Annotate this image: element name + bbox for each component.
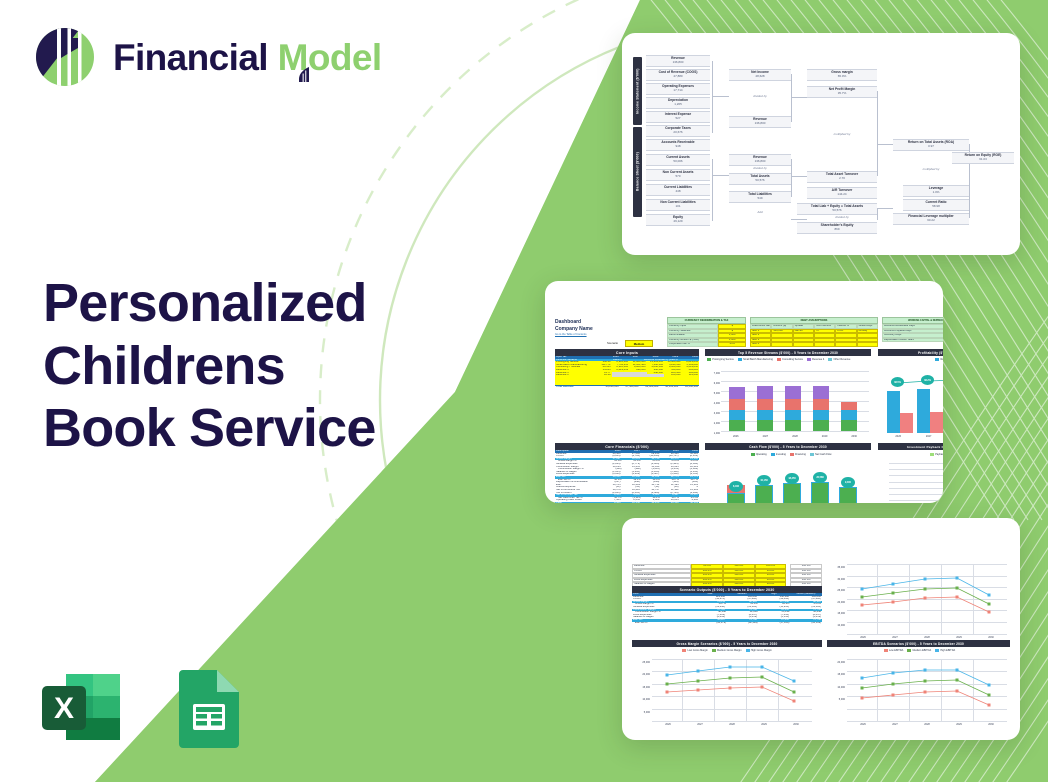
chart-title-ebitda-scenarios: EBITDA Scenarios ($'000) - 5 Years to De… xyxy=(827,640,1010,647)
brand-logo: Financial Model xyxy=(34,26,382,88)
legend-ebitda-scenarios: Low EBITDA Medium EBITDA High EBITDA xyxy=(847,649,992,652)
scenario-selector[interactable]: Medium xyxy=(625,340,653,347)
chart-revenue-scenarios-plot xyxy=(847,564,1007,634)
diagram-node: Depreciation1,265 xyxy=(646,97,710,109)
legend-cash-flow: Operating Investing Financing Net Cash F… xyxy=(713,453,869,456)
table-total-row: Total Revenue 26,200,000 27,400,000 28,4… xyxy=(555,385,699,389)
operator-label: multiplied by xyxy=(893,167,969,171)
chart-cash-flow-plot: 8,466 10,158 18,256 26,588 9,300 xyxy=(721,463,869,503)
legend-top5-revenue: Prototyping Service Small Batch Manufact… xyxy=(707,358,871,361)
panel-currency-denomination: CURRENCY DENOMINATION & TAX Currency Inp… xyxy=(667,317,746,345)
diagram-node: Corporate Taxes20,676 xyxy=(646,125,710,137)
diagram-node: Revenue136,800 xyxy=(729,116,791,128)
connector xyxy=(791,219,807,220)
connector xyxy=(712,159,713,221)
connector xyxy=(877,144,878,176)
screenshot-financial-ratio-diagram[interactable]: Income Statement ($'000) Balance Sheet (… xyxy=(622,33,1020,255)
diagram-node: Current Ratio58.98 xyxy=(903,199,969,211)
operator-label: divided by xyxy=(807,215,877,219)
diagram-node: Current Liabilities448 xyxy=(646,184,710,196)
table-of-contents-link[interactable]: Go to the Table of Contents xyxy=(555,333,587,336)
connector xyxy=(791,97,807,98)
yaxis-ebitda-scenarios: 20,000 15,000 10,000 5,000 xyxy=(825,657,845,707)
svg-text:X: X xyxy=(54,692,74,725)
xaxis-profitability: 2026 2027 2028 2029 2030 xyxy=(883,435,943,438)
connector xyxy=(712,96,729,97)
panel-working-capital: WORKING CAPITAL & DEPRECIATION Accounts … xyxy=(882,317,943,345)
diagram-node: Equity49,129 xyxy=(646,214,710,226)
diagram-node: Shareholder's Equity869 xyxy=(797,222,877,234)
legend-gross-margin-scenarios: Low Gross Margin Medium Gross Margin Hig… xyxy=(652,649,802,652)
chart-investment-payback-plot xyxy=(889,463,943,503)
panel-debt-assumptions: DEBT ASSUMPTIONS Loan/Grant NameAmount (… xyxy=(750,317,878,345)
band-balance-sheet: Balance Sheet ($'000) xyxy=(633,127,642,217)
yaxis-gross-margin-scenarios: 25,000 20,000 15,000 10,000 5,000 xyxy=(630,657,650,719)
yaxis-top5-revenue: 7,000 6,000 5,000 4,000 3,000 2,000 1,00… xyxy=(705,369,720,439)
diagram-node: Return on Total Assets (ROA)0.97 xyxy=(893,139,969,151)
diagram-node: Financial Leverage multiplier60.22 xyxy=(893,213,969,225)
brand-name-part2: Model xyxy=(278,37,382,78)
band-income-statement: Income Statement ($'000) xyxy=(633,57,642,125)
connector xyxy=(791,74,792,122)
header-core-financials: Core Financials ($'000) xyxy=(555,443,699,450)
headline-line-1: Personalized xyxy=(43,272,473,335)
microsoft-excel-icon[interactable]: X xyxy=(34,660,128,754)
connector xyxy=(791,176,807,177)
chart-title-gross-margin-scenarios: Gross Margin Scenarios ($'000) - 5 Years… xyxy=(632,640,822,647)
diagram-node: Leverage1.0% xyxy=(903,185,969,197)
diagram-node-roe: Return on Equity (ROE)61.03 xyxy=(952,152,1014,164)
table-core-inputs: Input Tax 2026 2027 2028 2029 2030 Reven… xyxy=(555,356,699,388)
diagram-node: Non Current Liabilities101 xyxy=(646,199,710,211)
headline-line-3: Book Service xyxy=(43,397,473,460)
operator-label: divided by xyxy=(729,94,791,98)
header-scenario-outputs: Scenario Outputs ($'000) - 5 Years to De… xyxy=(632,586,822,593)
diagram-node: Interest Expense527 xyxy=(646,111,710,123)
xaxis-top5-revenue: 2026 2027 2028 2029 2030 xyxy=(721,435,869,438)
yaxis-revenue-scenarios: 35,000 30,000 25,000 20,000 15,000 10,00… xyxy=(825,562,845,632)
screenshot-scenario-outputs[interactable]: Revenue80.0%100.0%120.0%100.0% COGS105.0… xyxy=(622,518,1020,740)
diagram-node: Net Profit Margin35.7% xyxy=(807,86,877,98)
legend-profitability: Revenue EBITDA EBITDA % xyxy=(890,358,943,361)
diagram-node: Total Assets50,576 xyxy=(729,173,791,185)
bar-chart-accent-icon xyxy=(298,52,310,69)
chart-title-profitability: Profitability ($'000) - 5 Years to Decem… xyxy=(878,349,943,356)
diagram-node: Revenue136,800 xyxy=(729,154,791,166)
connector xyxy=(877,208,893,209)
diagram-node: Net Income48,628 xyxy=(729,69,791,81)
diagram-node: Operating Expenses17,714 xyxy=(646,83,710,95)
connector xyxy=(712,175,729,176)
diagram-node: Total Asset Turnover2.70 xyxy=(807,171,877,183)
table-scenario-assumptions: Revenue80.0%100.0%120.0%100.0% COGS105.0… xyxy=(632,564,822,587)
connector xyxy=(877,91,878,145)
file-format-icons: X xyxy=(34,660,253,754)
xaxis-revenue-scenarios: 2026 2027 2028 2029 2030 xyxy=(847,636,1007,639)
diagram-node: Accounts Receivable948 xyxy=(646,139,710,151)
operator-label: divided by xyxy=(729,166,791,170)
xaxis-gross-margin-scenarios: 2026 2027 2028 2029 2030 xyxy=(652,723,812,726)
table-row xyxy=(555,377,699,385)
connector xyxy=(877,208,878,220)
scenario-label: Scenario xyxy=(607,341,618,345)
diagram-node: Total Liab + Equity = Total Assets50,576 xyxy=(797,203,877,215)
operator-label: multiplied by xyxy=(807,132,877,136)
diagram-node: Revenue136,800 xyxy=(646,55,710,67)
chart-top5-revenue-plot xyxy=(721,371,869,433)
connector xyxy=(791,159,792,197)
connector xyxy=(712,61,713,133)
table-core-financials: Description 2026 2027 2028 2029 2030 Rev… xyxy=(555,450,699,503)
header-core-inputs: Core Inputs xyxy=(555,349,699,356)
chart-title-investment-payback: Investment Payback Chart ($'000) - 5 Yea… xyxy=(878,443,943,450)
google-sheets-icon[interactable] xyxy=(159,660,253,754)
chart-gross-margin-scenarios-plot xyxy=(652,659,812,721)
table-row: EBITDA %(62,179)(62,199)(57,209)(62,199) xyxy=(632,622,822,625)
brand-name-part1: Financial xyxy=(113,37,278,78)
diagram-node: Total Liabilities549 xyxy=(729,191,791,203)
diagram-node: A/R Turnover144.24 xyxy=(807,187,877,199)
legend-investment-payback: Payback year Cumulative Cash Generated (… xyxy=(895,453,943,456)
chart-title-cash-flow: Cash Flow ($'000) - 5 Years to December … xyxy=(705,443,871,450)
chart-title-top5-revenue: Top 5 Revenue Streams ($'000) - 5 Years … xyxy=(705,349,871,356)
diagram-node: Gross margin65.0% xyxy=(807,69,877,81)
headline-line-2: Childrens xyxy=(43,335,473,398)
chart-profitability-plot: 38.5% 38.2% 37.7% 38.8% 41.7% xyxy=(883,369,943,433)
diagram-node: Non Current Assets570 xyxy=(646,169,710,181)
chart-ebitda-scenarios-plot xyxy=(847,659,1007,721)
slide-canvas: Financial Model Personalized Childrens B… xyxy=(0,0,1048,782)
table-row: Cash8,46610,15818,25626,58840,193 xyxy=(555,502,699,503)
dashboard-subtitle: Company Name xyxy=(555,326,593,332)
table-scenario-outputs: KPIs Low Medium High Active (Medium) Rev… xyxy=(632,593,822,624)
page-title: Personalized Childrens Book Service xyxy=(43,272,473,460)
connector xyxy=(877,144,893,145)
xaxis-ebitda-scenarios: 2026 2027 2028 2029 2030 xyxy=(847,723,1007,726)
circle-chart-logo-icon xyxy=(34,26,96,88)
dashboard-title: Dashboard xyxy=(555,319,581,325)
diagram-node: Current Assets50,006 xyxy=(646,154,710,166)
operator-label: Add xyxy=(729,210,791,214)
diagram-node: Cost of Revenue (COGS)47,880 xyxy=(646,69,710,81)
brand-wordmark: Financial Model xyxy=(113,39,382,76)
screenshot-dashboard[interactable]: Dashboard Company Name Go to the Table o… xyxy=(545,281,943,503)
